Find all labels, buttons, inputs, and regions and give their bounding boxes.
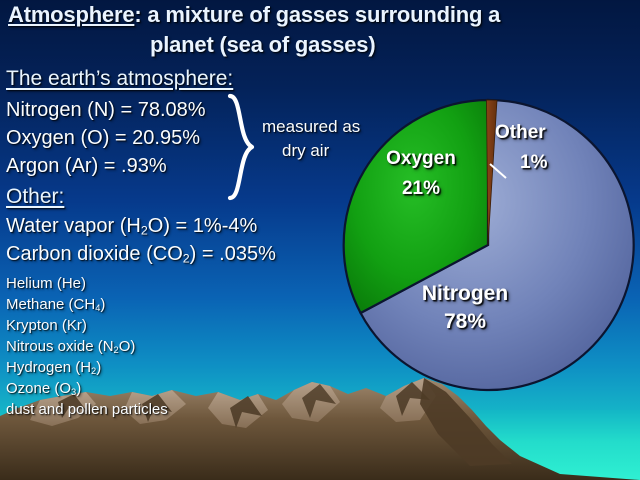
pie-label-other: Other (495, 122, 585, 144)
trace-gas-methane: Methane (CH4) (6, 297, 105, 313)
trace-gas-helium: Helium (He) (6, 276, 86, 292)
trace-gas-formula-post: ) (100, 296, 105, 313)
trace-gas-ozone: Ozone (O3) (6, 381, 81, 397)
pie-value-other: 1% (520, 152, 580, 174)
trace-gas-formula-post: ) (76, 380, 81, 397)
pie-value-oxygen: 21% (366, 178, 476, 200)
major-gas-argon: Argon (Ar) = .93% (6, 156, 167, 176)
trace-gas-formula-pre: (H (75, 359, 91, 376)
page-title-keyword: Atmosphere (8, 2, 134, 27)
trace-gas-dust-pollen: dust and pollen particles (6, 402, 168, 417)
page-title-rest: : a mixture of gasses surrounding a (134, 2, 500, 27)
page-title: Atmosphere: a mixture of gasses surround… (8, 4, 500, 26)
trace-gas-name: Methane (6, 296, 69, 313)
section-heading-other: Other: (6, 186, 64, 207)
other-gas-formula-sub: 2 (183, 252, 190, 266)
trace-gas-formula-pre: (N (98, 338, 114, 355)
curly-brace-icon (224, 92, 258, 202)
trace-gas-formula-pre: (Kr) (62, 317, 87, 334)
major-gas-oxygen: Oxygen (O) = 20.95% (6, 128, 200, 148)
other-gas-formula-pre: (CO (146, 243, 183, 265)
other-gas-formula-post: O) (148, 215, 170, 237)
trace-gas-formula-post: ) (96, 359, 101, 376)
slide-canvas: Atmosphere: a mixture of gasses surround… (0, 0, 640, 480)
trace-gas-formula-pre: (CH (69, 296, 96, 313)
trace-gas-hydrogen: Hydrogen (H2) (6, 360, 101, 376)
brace-note-line2: dry air (282, 142, 329, 159)
trace-gas-formula-post: O) (119, 338, 136, 355)
trace-gas-name: Nitrous oxide (6, 338, 98, 355)
page-title-line2: planet (sea of gasses) (150, 34, 375, 56)
other-gas-name: Water vapor (6, 215, 114, 237)
other-gas-water-vapor: Water vapor (H2O) = 1%-4% (6, 216, 257, 237)
other-gas-formula-sub: 2 (141, 224, 148, 238)
trace-gas-name: dust and pollen particles (6, 401, 168, 418)
section-heading-earths-atmosphere: The earth’s atmosphere: (6, 68, 233, 89)
trace-gas-name: Krypton (6, 317, 62, 334)
trace-gas-name: Ozone (6, 380, 54, 397)
trace-gas-name: Hydrogen (6, 359, 75, 376)
major-gas-nitrogen: Nitrogen (N) = 78.08% (6, 100, 206, 120)
other-gas-name: Carbon dioxide (6, 243, 141, 265)
atmosphere-pie-chart (340, 90, 640, 402)
other-gas-value: .035% (219, 243, 276, 265)
trace-gas-krypton: Krypton (Kr) (6, 318, 87, 334)
trace-gas-nitrous-oxide: Nitrous oxide (N2O) (6, 339, 135, 355)
other-gas-value: 1%-4% (193, 215, 257, 237)
other-gas-formula-post: ) (190, 243, 197, 265)
other-gas-formula-pre: (H (120, 215, 141, 237)
trace-gas-formula-pre: (O (54, 380, 71, 397)
other-gas-carbon-dioxide: Carbon dioxide (CO2) = .035% (6, 244, 276, 265)
trace-gas-name: Helium (6, 275, 57, 292)
trace-gas-formula-pre: (He) (57, 275, 86, 292)
pie-value-nitrogen: 78% (390, 310, 540, 334)
pie-label-oxygen: Oxygen (366, 148, 476, 170)
pie-label-nitrogen: Nitrogen (390, 282, 540, 306)
